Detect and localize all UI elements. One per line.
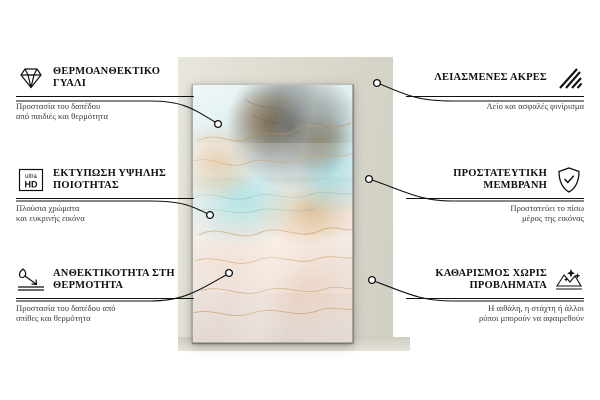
feature-heat-resistant-glass[interactable]: ΘΕΡΜΟΑΝΘΕΚΤΙΚΟ ΓΥΑΛΙ Προστασία του δαπέδ… [16, 64, 194, 122]
feature-description: Λείο και ασφαλές φινίρισμα [406, 101, 584, 111]
ultra-hd-icon: ultra HD [16, 166, 46, 194]
panel-edge-shadow [192, 84, 354, 344]
diamond-icon [16, 64, 46, 92]
divider [16, 198, 194, 199]
feature-protective-membrane[interactable]: ΠΡΟΣΤΑΤΕΥΤΙΚΗ ΜΕΜΒΡΑΝΗ Προστατεύει το πί… [406, 166, 584, 224]
divider [406, 96, 584, 97]
shield-check-icon [554, 166, 584, 194]
feature-title: ΠΡΟΣΤΑΤΕΥΤΙΚΗ ΜΕΜΒΡΑΝΗ [406, 168, 547, 193]
flame-resistance-icon [16, 266, 46, 294]
feature-description: Πλούσια χρώματα και ευκρινής εικόνα [16, 203, 194, 224]
feature-heat-durability[interactable]: ΑΝΘΕΚΤΙΚΟΤΗΤΑ ΣΤΗ ΘΕΡΜΟΤΗΤΑ Προστασία το… [16, 266, 194, 324]
divider [406, 198, 584, 199]
sparkle-clean-icon [554, 266, 584, 294]
feature-easy-cleaning[interactable]: ΚΑΘΑΡΙΣΜΟΣ ΧΩΡΙΣ ΠΡΟΒΛΗΜΑΤΑ Η αιθάλη, η … [406, 266, 584, 324]
divider [16, 96, 194, 97]
divider [16, 298, 194, 299]
feature-title: ΑΝΘΕΚΤΙΚΟΤΗΤΑ ΣΤΗ ΘΕΡΜΟΤΗΤΑ [53, 268, 194, 293]
feature-description: Προστασία του δαπέδου από σπίθες και θερ… [16, 303, 194, 324]
feature-description: Προστατεύει το πίσω μέρος της εικόνας [406, 203, 584, 224]
feature-description: Η αιθάλη, η στάχτη ή άλλοι ρύποι μπορούν… [406, 303, 584, 324]
polished-edges-icon [554, 64, 584, 92]
feature-high-quality-print[interactable]: ultra HD ΕΚΤΥΠΩΣΗ ΥΨΗΛΗΣ ΠΟΙΟΤΗΤΑΣ Πλούσ… [16, 166, 194, 224]
feature-title: ΛΕΙΑΣΜΕΝΕΣ ΑΚΡΕΣ [434, 72, 547, 85]
feature-title: ΕΚΤΥΠΩΣΗ ΥΨΗΛΗΣ ΠΟΙΟΤΗΤΑΣ [53, 168, 194, 193]
svg-text:HD: HD [25, 180, 38, 190]
feature-title: ΚΑΘΑΡΙΣΜΟΣ ΧΩΡΙΣ ΠΡΟΒΛΗΜΑΤΑ [406, 268, 547, 293]
feature-description: Προστασία του δαπέδου από παιδιές και θε… [16, 101, 194, 122]
divider [406, 298, 584, 299]
feature-polished-edges[interactable]: ΛΕΙΑΣΜΕΝΕΣ ΑΚΡΕΣ Λείο και ασφαλές φινίρι… [406, 64, 584, 111]
feature-title: ΘΕΡΜΟΑΝΘΕΚΤΙΚΟ ΓΥΑΛΙ [53, 66, 194, 91]
infographic-canvas: ΘΕΡΜΟΑΝΘΕΚΤΙΚΟ ΓΥΑΛΙ Προστασία του δαπέδ… [0, 0, 600, 400]
